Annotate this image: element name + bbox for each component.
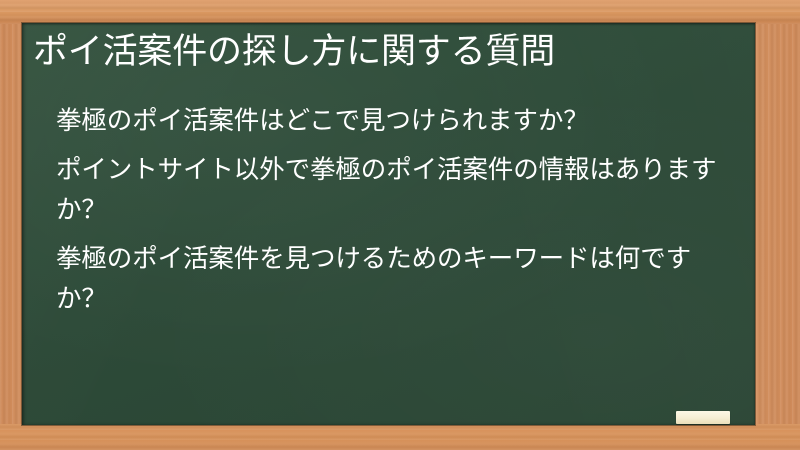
question-item: 拳極のポイ活案件はどこで見つけられますか？ — [56, 101, 724, 141]
chalkboard-slide: ポイ活案件の探し方に関する質問 拳極のポイ活案件はどこで見つけられますか？ ポイ… — [0, 0, 800, 450]
wooden-frame-bottom-ledge — [0, 424, 800, 450]
slide-title: ポイ活案件の探し方に関する質問 — [33, 29, 743, 75]
chalkboard-surface: ポイ活案件の探し方に関する質問 拳極のポイ活案件はどこで見つけられますか？ ポイ… — [22, 23, 755, 425]
question-item: ポイントサイト以外で拳極のポイ活案件の情報はありますか？ — [56, 150, 724, 230]
chalk-stick-icon — [676, 411, 730, 424]
question-list: 拳極のポイ活案件はどこで見つけられますか？ ポイントサイト以外で拳極のポイ活案件… — [56, 101, 724, 319]
question-item: 拳極のポイ活案件を見つけるためのキーワードは何ですか？ — [56, 239, 724, 319]
wooden-frame-top-rail — [0, 0, 800, 24]
